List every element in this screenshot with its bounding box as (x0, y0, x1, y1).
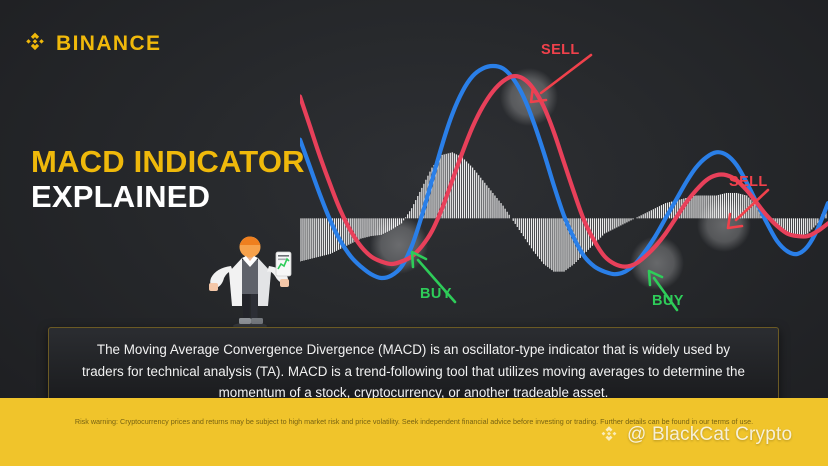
histogram-bar (641, 215, 642, 218)
histogram-bar (557, 218, 558, 271)
histogram-bar (519, 218, 520, 230)
histogram-bar (462, 157, 463, 218)
binance-logo: BINANCE (22, 30, 161, 56)
histogram-bar (454, 153, 455, 218)
histogram-bar (649, 211, 650, 218)
histogram-bar (813, 218, 814, 227)
histogram-bar (606, 218, 607, 232)
histogram-bar (472, 168, 473, 219)
page-title: MACD INDICATOR (31, 146, 305, 178)
histogram-bar (492, 193, 493, 218)
histogram-bar (468, 163, 469, 218)
histogram-bar (791, 218, 792, 234)
histogram-bar (639, 216, 640, 218)
sell-label-2: SELL (729, 174, 768, 190)
histogram-bar (616, 218, 617, 227)
histogram-bar (563, 218, 564, 271)
histogram-bar (811, 218, 812, 229)
histogram-bar (553, 218, 554, 271)
histogram-bar (626, 218, 627, 222)
histogram-bar (358, 218, 359, 239)
histogram-bar (545, 218, 546, 265)
histogram-bar (517, 218, 518, 227)
histogram-bar (596, 218, 597, 241)
histogram-bar (498, 201, 499, 219)
histogram-bar (533, 218, 534, 251)
histogram-bar (549, 218, 550, 268)
histogram-bar (797, 218, 798, 236)
binance-diamond-icon (598, 424, 620, 446)
histogram-bar (604, 218, 605, 233)
histogram-bar (368, 218, 369, 236)
histogram-bar (805, 218, 806, 234)
histogram-bar (486, 185, 487, 218)
histogram-bar (366, 218, 367, 237)
histogram-bar (312, 218, 313, 258)
histogram-bar (320, 218, 321, 256)
histogram-bar (509, 215, 510, 219)
histogram-bar (620, 218, 621, 225)
histogram-bar (618, 218, 619, 226)
histogram-bar (647, 212, 648, 218)
histogram-bar (525, 218, 526, 239)
watermark-text: @ BlackCat Crypto (627, 424, 792, 446)
histogram-bar (328, 218, 329, 254)
histogram-bar (484, 183, 485, 219)
histogram-bar (308, 218, 309, 259)
histogram-bar (663, 204, 664, 218)
histogram-bar (608, 218, 609, 231)
histogram-bar (507, 212, 508, 219)
histogram-bar (409, 211, 410, 218)
histogram-bar (360, 218, 361, 238)
histogram-bar (750, 200, 751, 219)
histogram-bar (628, 218, 629, 221)
histogram-bar (305, 218, 306, 260)
histogram-bar (531, 218, 532, 248)
histogram-bar (614, 218, 615, 228)
histogram-bar (437, 160, 438, 218)
histogram-bar (482, 180, 483, 218)
histogram-bar (318, 218, 319, 257)
histogram-bar (695, 195, 696, 218)
histogram-bar (572, 218, 573, 265)
histogram-bar (326, 218, 327, 255)
histogram-bar (653, 209, 654, 218)
histogram-bar (470, 166, 471, 219)
histogram-bar (600, 218, 601, 237)
histogram-bar (322, 218, 323, 256)
description-text: The Moving Average Convergence Divergenc… (75, 339, 752, 404)
histogram-bar (801, 218, 802, 235)
histogram-bar (496, 198, 497, 218)
histogram-bar (541, 218, 542, 261)
annotation-arrows (412, 55, 768, 310)
buy-label-2: BUY (652, 293, 684, 309)
histogram-bar (651, 210, 652, 218)
histogram-bar (460, 156, 461, 218)
histogram-bar (661, 205, 662, 218)
crossover-halo-sell-2 (697, 198, 751, 252)
histogram-bar (612, 218, 613, 229)
histogram-bar (559, 218, 560, 271)
histogram-bar (314, 218, 315, 258)
sell-1-arrow-shaft (541, 55, 591, 93)
histogram-bar (505, 209, 506, 219)
histogram-bar (691, 197, 692, 219)
histogram-bar (543, 218, 544, 264)
histogram-bar (807, 218, 808, 233)
histogram-bar (480, 178, 481, 219)
histogram-bar (697, 195, 698, 218)
histogram-bar (551, 218, 552, 270)
histogram-bar (561, 218, 562, 271)
histogram-bar (789, 218, 790, 234)
histogram-bar (598, 218, 599, 239)
histogram-bar (630, 218, 631, 220)
histogram-bar (513, 218, 514, 221)
channel-watermark: @ BlackCat Crypto (598, 424, 792, 446)
histogram-bar (632, 218, 633, 219)
histogram-bar (464, 159, 465, 218)
histogram-bar (547, 218, 548, 267)
histogram-bar (370, 218, 371, 236)
histogram-bar (310, 218, 311, 259)
histogram-bar (555, 218, 556, 271)
title-block: MACD INDICATOR EXPLAINED (31, 146, 305, 213)
analyst-character-illustration (198, 226, 302, 330)
histogram-bar (815, 218, 816, 225)
histogram-bar (624, 218, 625, 223)
histogram-bar (446, 154, 447, 218)
histogram-bar (622, 218, 623, 224)
histogram-bar (793, 218, 794, 235)
histogram-bar (803, 218, 804, 234)
histogram-bar (415, 200, 416, 218)
histogram-bar (537, 218, 538, 256)
binance-wordmark: BINANCE (56, 33, 161, 54)
histogram-bar (799, 218, 800, 235)
histogram-bar (502, 206, 503, 219)
buy-label-1: BUY (420, 286, 452, 302)
histogram-bar (515, 218, 516, 224)
histogram-bar (637, 217, 638, 218)
histogram-bar (490, 190, 491, 218)
histogram-bar (529, 218, 530, 245)
histogram-bar (754, 204, 755, 219)
histogram-bar (411, 208, 412, 218)
infographic-canvas: BINANCE MACD INDICATOR EXPLAINED (0, 0, 828, 466)
histogram-bar (500, 203, 501, 218)
histogram-bar (809, 218, 810, 231)
sell-label-1: SELL (541, 42, 580, 58)
histogram-bar (610, 218, 611, 230)
histogram-bar (578, 218, 579, 260)
histogram-bar (364, 218, 365, 237)
histogram-bar (478, 175, 479, 218)
histogram-bar (488, 188, 489, 218)
histogram-bar (476, 173, 477, 219)
histogram-bar (324, 218, 325, 255)
histogram-bar (523, 218, 524, 236)
histogram-bar (521, 218, 522, 233)
binance-diamond-icon (22, 30, 48, 56)
histogram-bar (362, 218, 363, 238)
histogram-bar (303, 218, 304, 260)
histogram-bar (474, 170, 475, 218)
histogram-bar (657, 207, 658, 218)
histogram-bar (535, 218, 536, 254)
histogram-bar (413, 204, 414, 218)
histogram-bar (494, 195, 495, 218)
histogram-bar (693, 196, 694, 218)
histogram-bar (466, 161, 467, 218)
histogram-bar (602, 218, 603, 235)
histogram-bar (795, 218, 796, 235)
histogram-bar (316, 218, 317, 257)
histogram-bar (527, 218, 528, 242)
histogram-bar (417, 196, 418, 218)
histogram-bar (539, 218, 540, 259)
page-subtitle: EXPLAINED (31, 181, 305, 213)
histogram-bar (655, 208, 656, 218)
histogram-bar (643, 214, 644, 218)
histogram-bar (645, 213, 646, 218)
histogram-bar (659, 206, 660, 218)
